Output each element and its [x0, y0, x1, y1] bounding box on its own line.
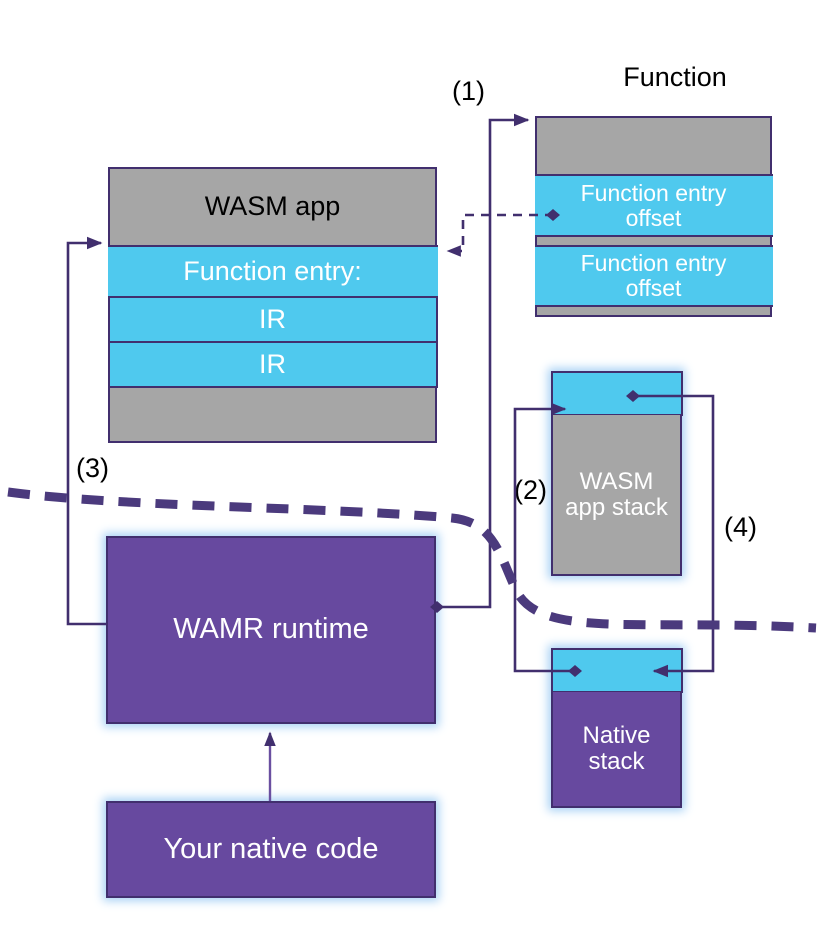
- wasm-app-title: WASM app: [205, 192, 341, 221]
- entry-offset-2-line2: offset: [626, 275, 682, 301]
- table-separator-2: [537, 307, 770, 315]
- native-stack-line1: Native: [582, 722, 650, 749]
- step-label-2: (2): [514, 477, 547, 504]
- wasm-app-stack-body: WASM app stack: [553, 415, 680, 574]
- wasm-app-ir-label-1: IR: [259, 305, 286, 334]
- wasm-app-ir-row-1: IR: [108, 298, 438, 343]
- wasm-app-function-entry-label: Function entry:: [183, 257, 362, 286]
- step-label-3: (3): [76, 455, 109, 482]
- native-stack-line2: stack: [588, 748, 644, 775]
- wasm-app-stack-line1: WASM: [580, 468, 654, 495]
- entry-offset-1-line2: offset: [626, 205, 682, 231]
- wasm-app-stack: WASM app stack: [551, 371, 682, 576]
- wasm-app-function-entry-row: Function entry:: [108, 245, 438, 298]
- wasm-app-stack-top-band: [551, 371, 683, 416]
- your-native-code: Your native code: [106, 801, 436, 898]
- table-row-entry-offset-2: Function entry offset: [535, 245, 773, 307]
- native-stack-body: Native stack: [553, 692, 680, 806]
- native-stack: Native stack: [551, 648, 682, 808]
- table-row-entry-offset-1: Function entry offset: [535, 174, 773, 237]
- wasm-app: WASM app Function entry: IR IR: [108, 167, 437, 443]
- step-label-4: (4): [724, 514, 757, 541]
- wamr-runtime-label: WAMR runtime: [173, 614, 369, 645]
- entry-offset-2-line1: Function entry: [581, 250, 727, 276]
- table-row-gray-top: [537, 118, 770, 174]
- connector-step-1: [490, 120, 528, 258]
- function-index-table: Function entry offset Function entry off…: [535, 116, 772, 317]
- wasm-app-ir-row-2: IR: [108, 343, 438, 388]
- wasm-app-title-row: WASM app: [110, 169, 435, 245]
- your-native-code-label: Your native code: [164, 834, 379, 865]
- diagram-canvas: Function Index Table Function entry offs…: [0, 0, 819, 925]
- native-stack-top-band: [551, 648, 683, 693]
- wasm-app-ir-label-2: IR: [259, 350, 286, 379]
- wamr-runtime: WAMR runtime: [106, 536, 436, 724]
- wasm-app-stack-line2: app stack: [565, 494, 668, 521]
- wasm-app-footer-row: [110, 388, 435, 441]
- connector-step-3: [68, 243, 106, 624]
- table-separator-1: [537, 237, 770, 245]
- step-label-1: (1): [452, 78, 485, 105]
- title-line-1: Function: [623, 62, 727, 92]
- connector-runtime-to-table: [430, 258, 490, 613]
- entry-offset-1-line1: Function entry: [581, 180, 727, 206]
